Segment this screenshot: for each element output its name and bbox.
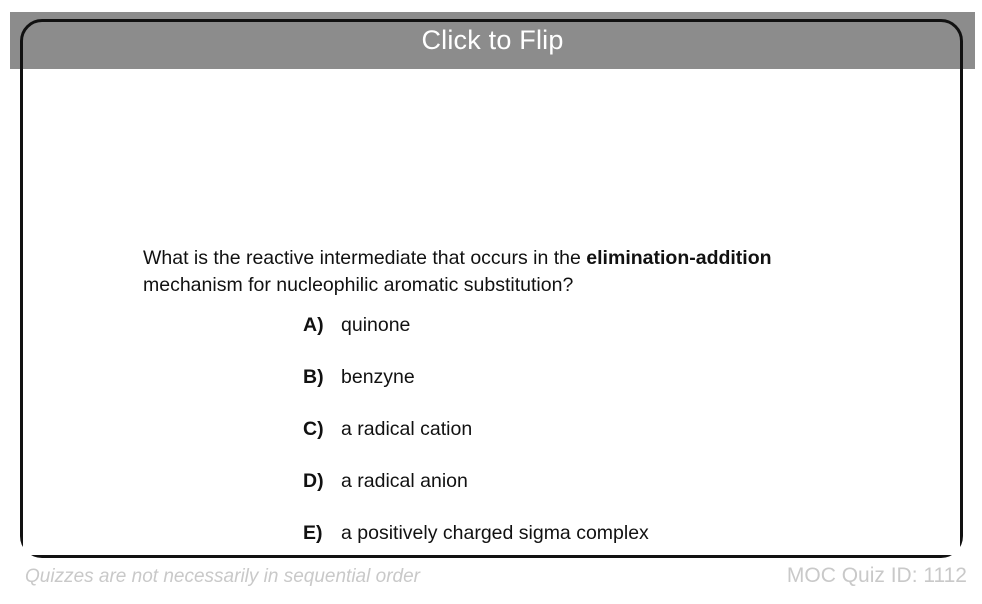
card-header-title: Click to Flip bbox=[421, 27, 563, 54]
click-to-flip-button[interactable]: Click to Flip bbox=[10, 12, 975, 69]
answer-option-c-text: a radical cation bbox=[341, 418, 472, 440]
answer-option-c-letter: C) bbox=[303, 416, 341, 442]
answer-option-d[interactable]: D)a radical anion bbox=[303, 468, 943, 520]
answer-options-list: A)quinone B)benzyne C)a radical cation D… bbox=[303, 312, 943, 572]
answer-option-b-text: benzyne bbox=[341, 366, 415, 388]
answer-option-b[interactable]: B)benzyne bbox=[303, 364, 943, 416]
answer-option-a-letter: A) bbox=[303, 312, 341, 338]
answer-option-a[interactable]: A)quinone bbox=[303, 312, 943, 364]
question-text: What is the reactive intermediate that o… bbox=[143, 245, 843, 299]
footer-quiz-id: MOC Quiz ID: 1112 bbox=[787, 564, 967, 588]
answer-option-c[interactable]: C)a radical cation bbox=[303, 416, 943, 468]
footer-note: Quizzes are not necessarily in sequentia… bbox=[25, 566, 420, 588]
answer-option-e-text: a positively charged sigma complex bbox=[341, 522, 649, 544]
question-emphasis: elimination-addition bbox=[586, 247, 771, 269]
flashcard-body[interactable]: What is the reactive intermediate that o… bbox=[23, 69, 960, 555]
answer-option-e-letter: E) bbox=[303, 520, 341, 546]
question-part-1: What is the reactive intermediate that o… bbox=[143, 247, 586, 269]
question-part-2: mechanism for nucleophilic aromatic subs… bbox=[143, 274, 573, 296]
answer-option-a-text: quinone bbox=[341, 314, 410, 336]
flashcard-screen: Click to Flip What is the reactive inter… bbox=[0, 0, 982, 604]
answer-option-d-letter: D) bbox=[303, 468, 341, 494]
answer-option-b-letter: B) bbox=[303, 364, 341, 390]
answer-option-d-text: a radical anion bbox=[341, 470, 468, 492]
